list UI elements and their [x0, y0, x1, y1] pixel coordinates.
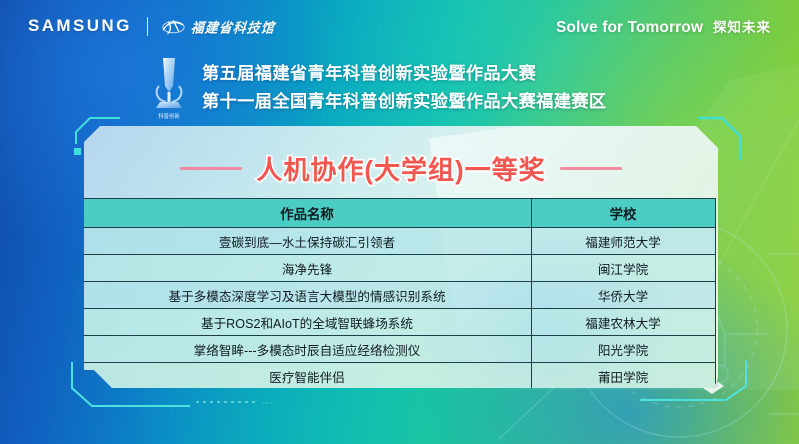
- title-rule-right: [560, 167, 622, 170]
- cell-work-name: 壹碳到底—水土保持碳汇引领者: [84, 228, 531, 255]
- column-header-school: 学校: [531, 199, 715, 228]
- table-row: 海净先锋闽江学院: [84, 255, 715, 282]
- table-row: 壹碳到底—水土保持碳汇引领者福建师范大学: [84, 228, 715, 255]
- table-body: 壹碳到底—水土保持碳汇引领者福建师范大学海净先锋闽江学院基于多模态深度学习及语言…: [84, 228, 715, 390]
- competition-title-lines: 第五届福建省青年科普创新实验暨作品大赛 第十一届全国青年科普创新实验暨作品大赛福…: [202, 56, 607, 115]
- cell-school-name: 福建农林大学: [531, 309, 715, 336]
- awards-table: 作品名称 学校 壹碳到底—水土保持碳汇引领者福建师范大学海净先锋闽江学院基于多模…: [84, 198, 716, 390]
- awards-table-wrap: 作品名称 学校 壹碳到底—水土保持碳汇引领者福建师范大学海净先锋闽江学院基于多模…: [84, 198, 716, 390]
- table-header-row: 作品名称 学校: [84, 199, 715, 228]
- cell-work-name: 海净先锋: [84, 255, 531, 282]
- partner-logo: 福建省科技馆: [161, 17, 275, 36]
- table-row: 基于ROS2和AIoT的全域智联蜂场系统福建农林大学: [84, 309, 715, 336]
- competition-line-1: 第五届福建省青年科普创新实验暨作品大赛: [202, 59, 607, 87]
- table-row: 掌络智眸---多模态时辰自适应经络检测仪阳光学院: [84, 336, 715, 363]
- competition-heading: 科普创新 第五届福建省青年科普创新实验暨作品大赛 第十一届全国青年科普创新实验暨…: [148, 56, 607, 124]
- svg-text:◦◦◦: ◦◦◦: [262, 400, 273, 407]
- cell-work-name: 医疗智能伴侣: [84, 363, 531, 390]
- cell-work-name: 基于ROS2和AIoT的全域智联蜂场系统: [84, 309, 531, 336]
- trophy-icon: 科普创新: [148, 56, 190, 124]
- slide-background: SAMSUNG 福建省科技馆 Solve for Tomorrow 探知未来: [0, 0, 799, 444]
- column-header-work: 作品名称: [84, 199, 531, 228]
- title-rule-left: [180, 167, 242, 170]
- table-head: 作品名称 学校: [84, 199, 715, 228]
- table-row: 医疗智能伴侣莆田学院: [84, 363, 715, 390]
- slogan-english: Solve for Tomorrow: [556, 19, 703, 37]
- award-title-row: 人机协作(大学组)一等奖: [84, 150, 718, 187]
- logo-divider: [147, 17, 148, 36]
- cell-school-name: 莆田学院: [531, 363, 715, 390]
- partner-name: 福建省科技馆: [190, 16, 276, 36]
- svg-text:科普创新: 科普创新: [158, 112, 180, 120]
- competition-line-2: 第十一届全国青年科普创新实验暨作品大赛福建赛区: [202, 87, 607, 115]
- cell-school-name: 阳光学院: [531, 336, 715, 363]
- fujian-science-museum-seal-icon: [161, 17, 186, 36]
- slogan-chinese: 探知未来: [713, 16, 771, 36]
- content-card: 人机协作(大学组)一等奖 作品名称 学校 壹碳到底—水土保持碳汇引领者福建师范大…: [84, 126, 718, 390]
- samsung-logo: SAMSUNG: [28, 16, 132, 36]
- slogan-group: Solve for Tomorrow 探知未来: [556, 16, 771, 37]
- table-row: 基于多模态深度学习及语言大模型的情感识别系统华侨大学: [84, 282, 715, 309]
- award-title: 人机协作(大学组)一等奖: [256, 150, 545, 187]
- cell-school-name: 福建师范大学: [531, 228, 715, 255]
- top-brand-bar: SAMSUNG 福建省科技馆 Solve for Tomorrow 探知未来: [0, 0, 799, 52]
- cell-school-name: 闽江学院: [531, 255, 715, 282]
- cell-work-name: 基于多模态深度学习及语言大模型的情感识别系统: [84, 282, 531, 309]
- cell-school-name: 华侨大学: [531, 282, 715, 309]
- cell-work-name: 掌络智眸---多模态时辰自适应经络检测仪: [84, 336, 531, 363]
